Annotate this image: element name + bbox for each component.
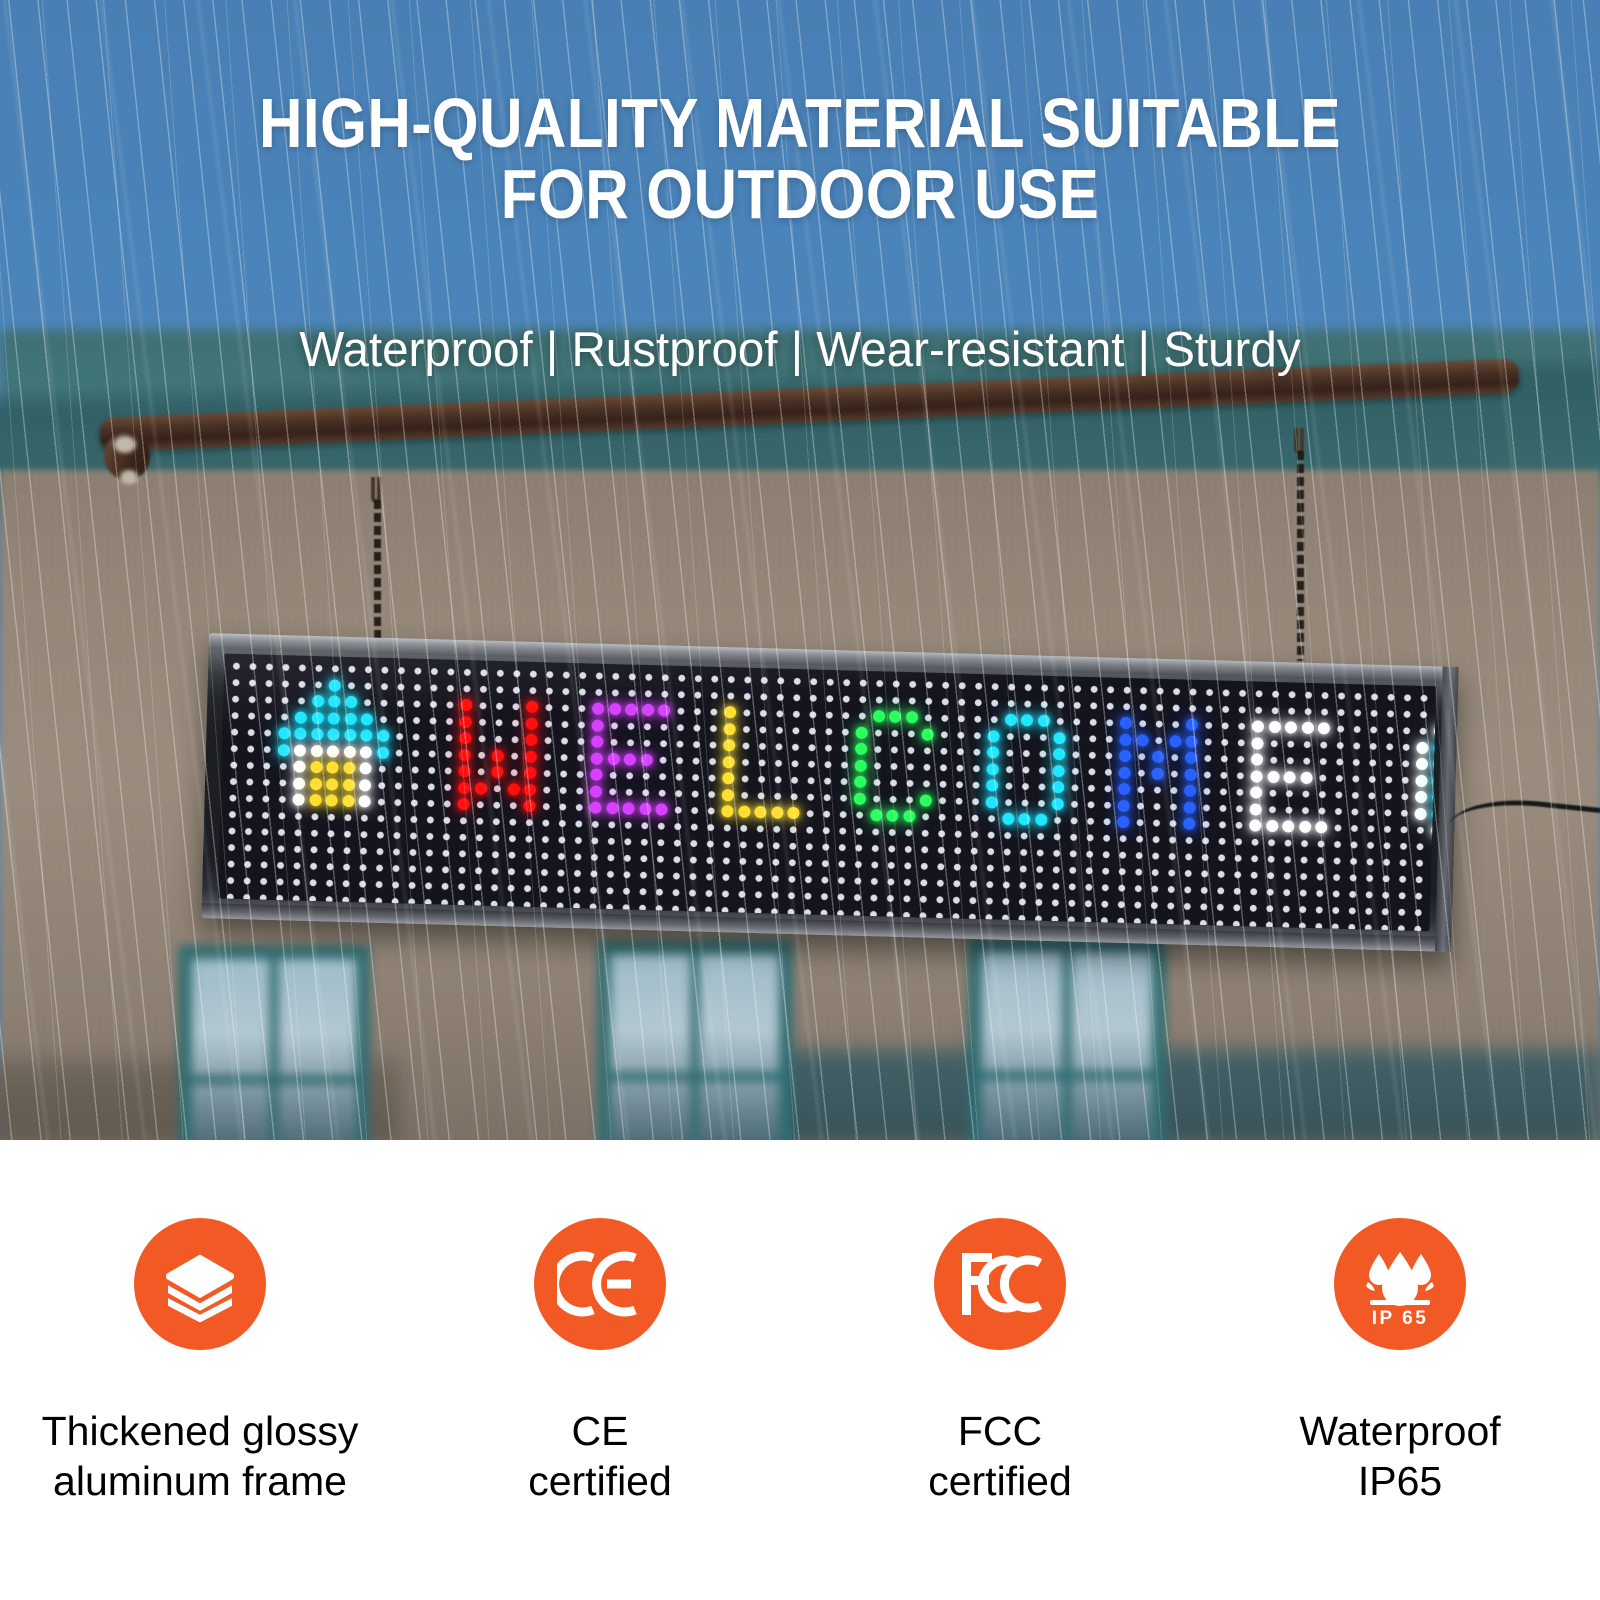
right-chain [1297,451,1304,661]
ce-badge [534,1218,666,1350]
led-message-WELCOME [218,654,1436,932]
waterdrop-ip65-icon: IP 65 [1354,1238,1446,1330]
feature-item-waterproof-ip65: IP 65 Waterproof IP65 [1200,1140,1600,1600]
building-window [178,945,370,1140]
ip65-badge-text: IP 65 [1372,1308,1429,1329]
layers-icon [159,1243,241,1325]
feature-label: Thickened glossy aluminum frame [42,1406,359,1506]
headline-line-1: HIGH-QUALITY MATERIAL SUITABLE [259,84,1341,162]
building-window [968,938,1166,1140]
page-title: HIGH-QUALITY MATERIAL SUITABLE FOR OUTDO… [112,88,1488,231]
building-window [597,940,793,1140]
feature-item-fcc-certified: FCC certified [800,1140,1200,1600]
ip65-badge: IP 65 [1334,1218,1466,1350]
feature-item-aluminum-frame: Thickened glossy aluminum frame [0,1140,400,1600]
hero-photo: HIGH-QUALITY MATERIAL SUITABLE FOR OUTDO… [0,0,1600,1140]
feature-label: CE certified [528,1406,672,1506]
layers-badge [134,1218,266,1350]
pipe-cap-highlight [120,470,138,484]
fcc-badge [934,1218,1066,1350]
feature-strip: Thickened glossy aluminum frame CE certi… [0,1140,1600,1600]
feature-label: Waterproof IP65 [1299,1406,1500,1506]
feature-label: FCC certified [928,1406,1072,1506]
fcc-mark-icon [956,1247,1044,1321]
feature-item-ce-certified: CE certified [400,1140,800,1600]
ce-mark-icon [557,1248,643,1320]
led-sign[interactable] [201,633,1458,952]
headline-line-2: FOR OUTDOOR USE [112,159,1488,230]
led-panel [218,654,1436,932]
pipe-cap-highlight [114,436,136,453]
subtitle: Waterproof | Rustproof | Wear-resistant … [24,322,1576,378]
